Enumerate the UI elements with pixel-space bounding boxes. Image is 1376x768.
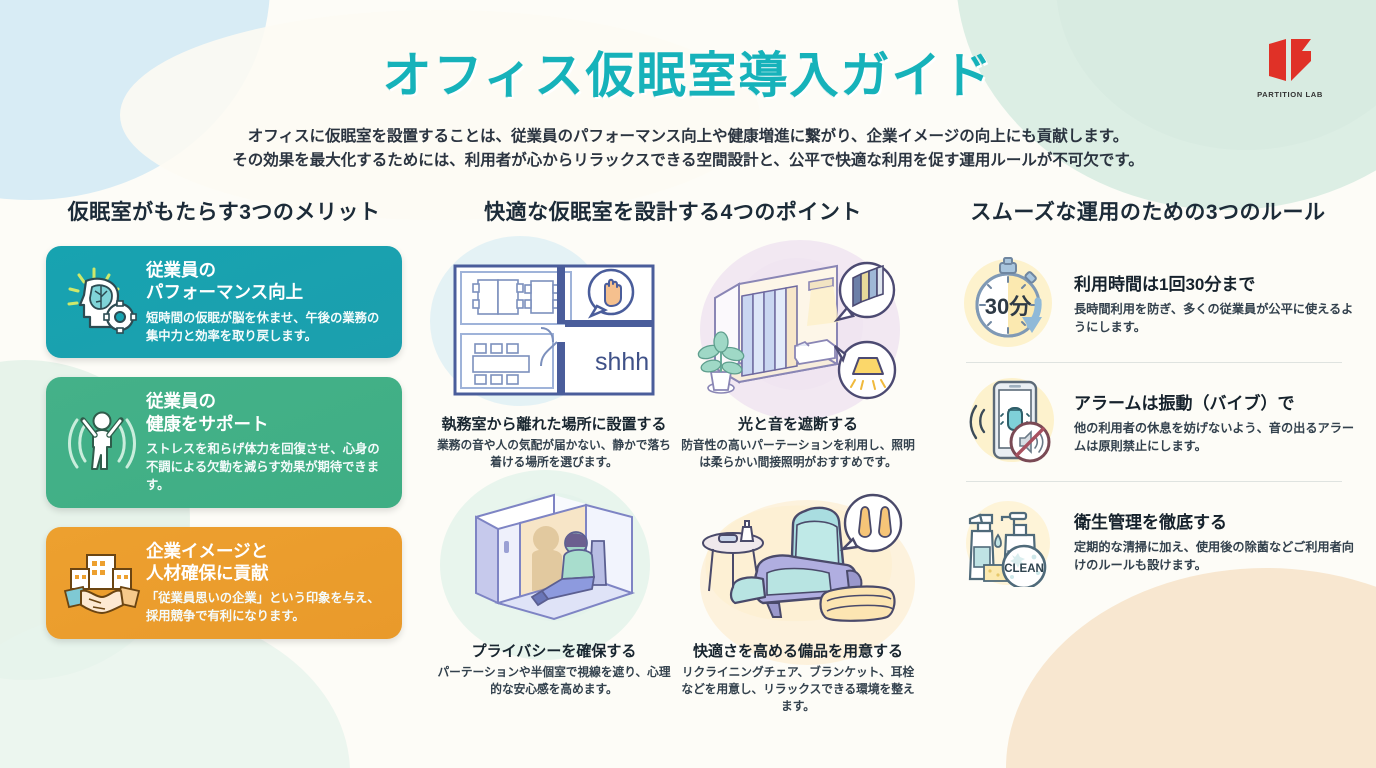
benefit-title-line-2: 人材確保に貢献 (146, 562, 386, 584)
benefit-description: 短時間の仮眠が脳を休ませ、午後の業務の集中力と効率を取り戻します。 (146, 309, 386, 345)
design-points-column: 快適な仮眠室を設計する4つのポイント (430, 196, 948, 715)
benefit-card-body: 従業員の 健康をサポート ストレスを和らげ体力を回復させ、心身の不調による欠勤を… (146, 390, 386, 494)
recliner-blanket-icon (680, 473, 916, 633)
benefit-card-performance[interactable]: 従業員の パフォーマンス向上 短時間の仮眠が脳を休ませ、午後の業務の集中力と効率… (46, 246, 402, 358)
design-point-light-sound[interactable]: 光と音を遮断する 防音性の高いパーテーションを利用し、照明は柔らかい間接照明がお… (676, 246, 920, 471)
benefit-card-body: 従業員の パフォーマンス向上 短時間の仮眠が脳を休ませ、午後の業務の集中力と効率… (146, 259, 386, 345)
rule-title: 利用時間は1回30分まで (1074, 270, 1356, 295)
design-point-amenities[interactable]: 快適さを高める備品を用意する リクライニングチェア、ブランケット、耳栓などを用意… (676, 473, 920, 715)
design-point-description: パーテーションや半個室で視線を遮り、心理的な安心感を高めます。 (436, 664, 672, 698)
benefit-card-branding[interactable]: 企業イメージと 人材確保に貢献 「従業員思いの企業」という印象を与え、採用競争で… (46, 527, 402, 639)
rule-body: アラームは振動（バイブ）で 他の利用者の休息を妨げないよう、音の出るアラームは原… (1074, 387, 1356, 456)
design-point-title: 快適さを高める備品を用意する (680, 640, 916, 661)
infographic-page: オフィス仮眠室導入ガイド オフィスに仮眠室を設置することは、従業員のパフォーマン… (0, 0, 1376, 768)
rule-title: 衛生管理を徹底する (1074, 508, 1356, 533)
design-points-heading: 快適な仮眠室を設計する4つのポイント (430, 196, 916, 226)
design-point-title: 執務室から離れた場所に設置する (436, 413, 672, 434)
rule-description: 他の利用者の休息を妨げないよう、音の出るアラームは原則禁止にします。 (1074, 419, 1356, 456)
page-header: オフィス仮眠室導入ガイド オフィスに仮眠室を設置することは、従業員のパフォーマン… (0, 0, 1376, 174)
building-handshake-icon (58, 540, 146, 626)
logo-text: PARTITION LAB (1242, 90, 1338, 99)
design-point-title: プライバシーを確保する (436, 640, 672, 661)
stopwatch-icon: 30分 (958, 254, 1062, 350)
benefit-description: 「従業員思いの企業」という印象を与え、採用競争で有利になります。 (146, 589, 386, 625)
partition-lab-mark-icon (1242, 34, 1338, 86)
rule-body: 衛生管理を徹底する 定期的な清掃に加え、使用後の除菌などご利用者向けのルールも設… (1074, 506, 1356, 575)
design-point-description: 防音性の高いパーテーションを利用し、照明は柔らかい間接照明がおすすめです。 (680, 437, 916, 471)
design-point-title: 光と音を遮断する (680, 413, 916, 434)
benefit-title-line-2: 健康をサポート (146, 413, 386, 435)
brain-gear-icon (58, 259, 146, 345)
rules-heading: スムーズな運用のための3つのルール (948, 196, 1348, 226)
rule-title: アラームは振動（バイブ）で (1074, 389, 1356, 414)
subtitle-line-1: オフィスに仮眠室を設置することは、従業員のパフォーマンス向上や健康増進に繋がり、… (0, 125, 1376, 149)
page-subtitle: オフィスに仮眠室を設置することは、従業員のパフォーマンス向上や健康増進に繋がり、… (0, 125, 1376, 174)
benefit-title-line-1: 従業員の (146, 390, 386, 412)
phone-vibration-icon (958, 373, 1062, 469)
office-floorplan-icon: shhh (436, 246, 672, 406)
rule-vibration-alarm[interactable]: アラームは振動（バイブ）で 他の利用者の休息を妨げないよう、音の出るアラームは原… (948, 365, 1356, 479)
benefit-title-line-1: 企業イメージと (146, 540, 386, 562)
benefit-card-health[interactable]: 従業員の 健康をサポート ストレスを和らげ体力を回復させ、心身の不調による欠勤を… (46, 377, 402, 507)
benefit-title-line-2: パフォーマンス向上 (146, 281, 386, 303)
person-wellness-icon (58, 399, 146, 485)
rule-hygiene[interactable]: CLEAN 衛生管理を徹底する 定期的な清掃に加え、使用後の除菌などご利用者向け… (948, 484, 1356, 598)
benefit-title: 企業イメージと 人材確保に貢献 (146, 540, 386, 585)
privacy-booth-icon (436, 473, 672, 633)
benefits-column: 仮眠室がもたらす3つのメリット (0, 196, 430, 715)
benefit-description: ストレスを和らげ体力を回復させ、心身の不調による欠勤を減らす効果が期待できます。 (146, 440, 386, 495)
benefit-title: 従業員の パフォーマンス向上 (146, 259, 386, 304)
rule-description: 定期的な清掃に加え、使用後の除菌などご利用者向けのルールも設けます。 (1074, 538, 1356, 575)
benefit-title: 従業員の 健康をサポート (146, 390, 386, 435)
rule-divider (966, 481, 1342, 482)
shhh-label: shhh (595, 348, 649, 376)
design-points-grid: shhh 執務室から離れた場所に設置する 業務の音や人の気配が届かない、静かで落… (432, 246, 924, 715)
page-title: オフィス仮眠室導入ガイド (0, 36, 1376, 107)
rule-divider (966, 362, 1342, 363)
stopwatch-label: 30分 (985, 294, 1032, 319)
rules-column: スムーズな運用のための3つのルール (948, 196, 1376, 715)
rules-list: 30分 利用時間は1回30分まで 長時間利用を防ぎ、多くの従業員が公平に使えるよ… (948, 246, 1356, 598)
design-point-description: リクライニングチェア、ブランケット、耳栓などを用意し、リラックスできる環境を整え… (680, 664, 916, 715)
content-columns: 仮眠室がもたらす3つのメリット (0, 196, 1376, 715)
rule-time-limit[interactable]: 30分 利用時間は1回30分まで 長時間利用を防ぎ、多くの従業員が公平に使えるよ… (948, 246, 1356, 360)
benefit-card-body: 企業イメージと 人材確保に貢献 「従業員思いの企業」という印象を与え、採用競争で… (146, 540, 386, 626)
clean-label: CLEAN (1004, 563, 1044, 575)
rule-description: 長時間利用を防ぎ、多くの従業員が公平に使えるようにします。 (1074, 300, 1356, 337)
design-point-privacy[interactable]: プライバシーを確保する パーテーションや半個室で視線を遮り、心理的な安心感を高め… (432, 473, 676, 715)
benefits-heading: 仮眠室がもたらす3つのメリット (46, 196, 402, 226)
design-point-description: 業務の音や人の気配が届かない、静かで落ち着ける場所を選びます。 (436, 437, 672, 471)
benefit-title-line-1: 従業員の (146, 259, 386, 281)
nap-room-lighting-icon (680, 246, 916, 406)
design-point-location[interactable]: shhh 執務室から離れた場所に設置する 業務の音や人の気配が届かない、静かで落… (432, 246, 676, 471)
subtitle-line-2: その効果を最大化するためには、利用者が心からリラックスできる空間設計と、公平で快… (0, 149, 1376, 173)
rule-body: 利用時間は1回30分まで 長時間利用を防ぎ、多くの従業員が公平に使えるようにしま… (1074, 268, 1356, 337)
brand-logo: PARTITION LAB (1242, 34, 1338, 99)
cleaning-spray-icon: CLEAN (958, 492, 1062, 588)
